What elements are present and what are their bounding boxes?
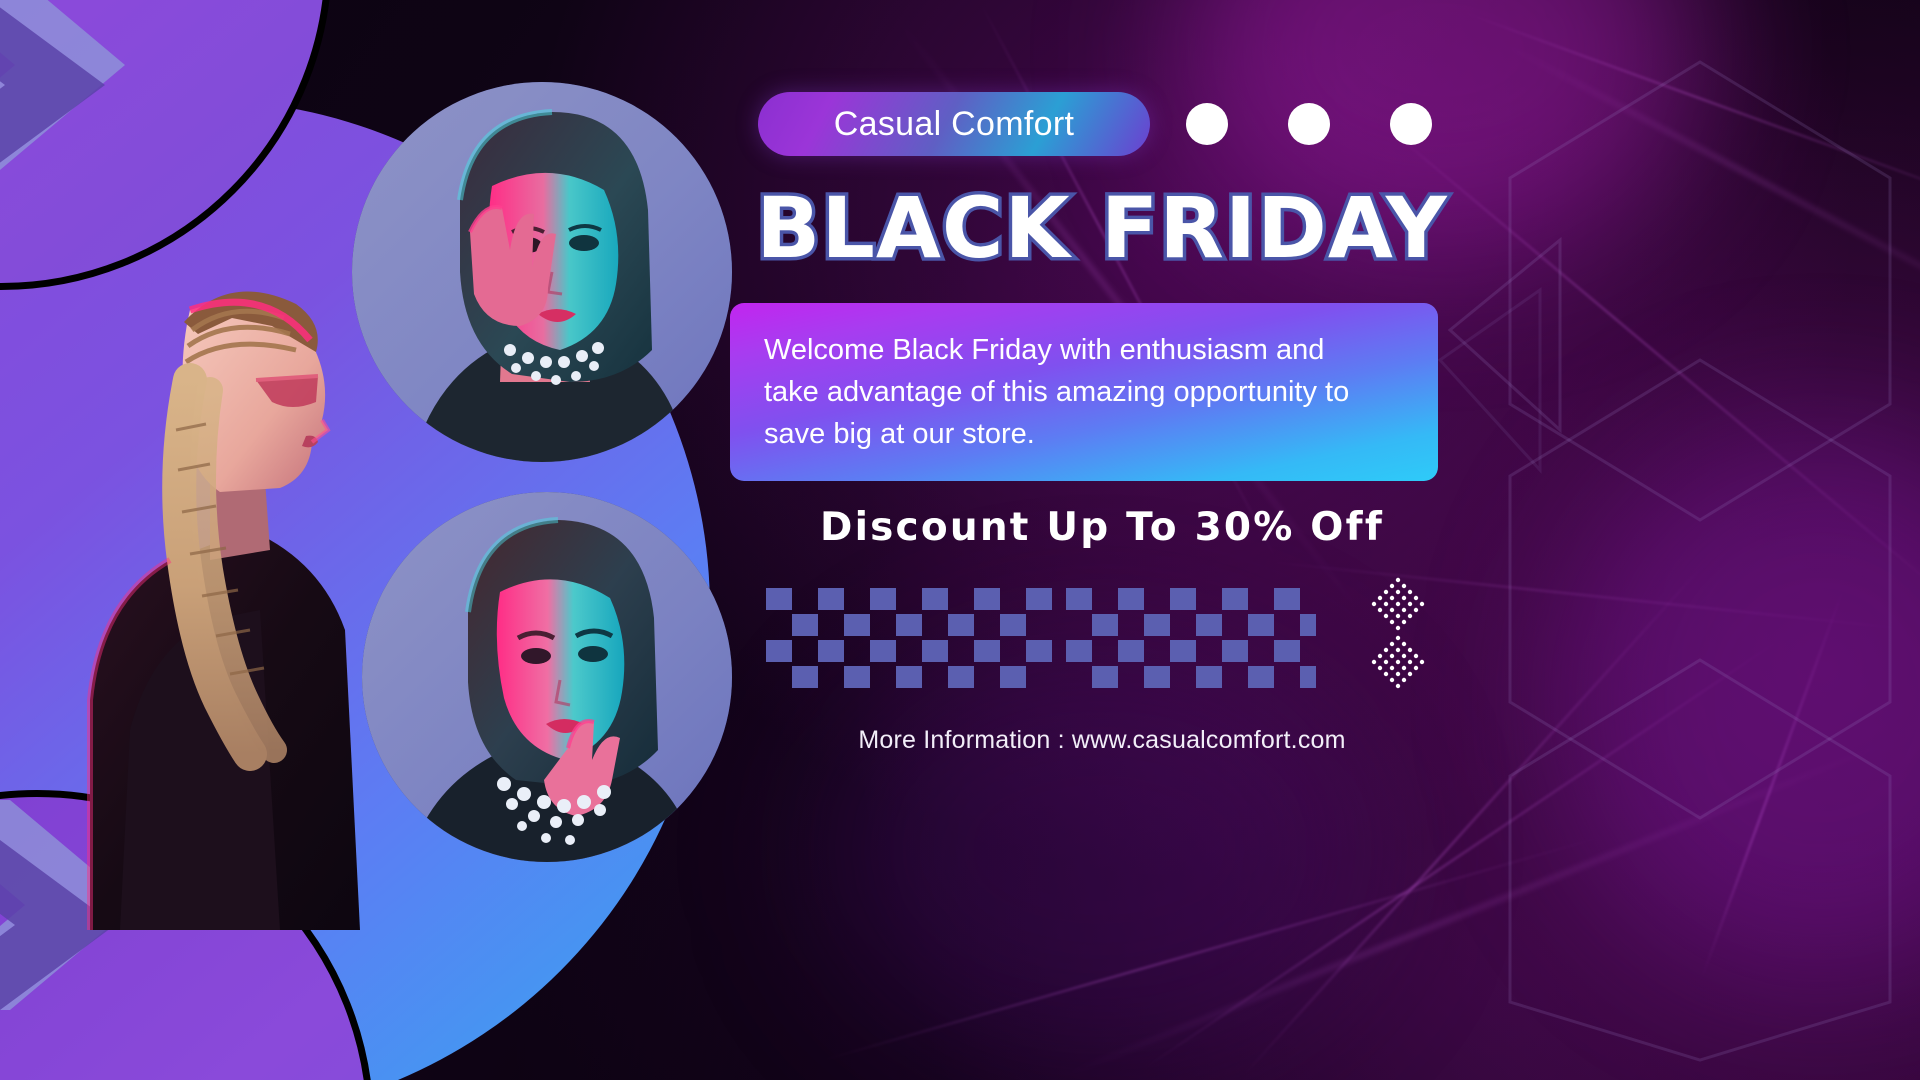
black-friday-banner: Casual Comfort BLACK FRIDAY Welcome Blac… xyxy=(0,0,1920,1080)
discount-headline: Discount Up To 30% Off xyxy=(752,505,1452,550)
diamond-dot-motif xyxy=(1362,576,1434,690)
description-text: Welcome Black Friday with enthusiasm and… xyxy=(764,329,1384,456)
brand-label: Casual Comfort xyxy=(834,105,1074,144)
checkerboard-pattern-right xyxy=(1066,588,1316,688)
model-portrait-bottom xyxy=(362,492,732,862)
checkerboard-pattern-left xyxy=(766,588,1056,688)
page-title: BLACK FRIDAY xyxy=(752,186,1452,270)
decor-dot-1 xyxy=(1186,103,1228,145)
brand-pill[interactable]: Casual Comfort xyxy=(758,92,1150,156)
decor-dot-2 xyxy=(1288,103,1330,145)
model-portrait-top xyxy=(352,82,732,462)
more-information-text[interactable]: More Information : www.casualcomfort.com xyxy=(752,726,1452,755)
chevron-arrow-top-left xyxy=(0,0,210,210)
decor-dot-3 xyxy=(1390,103,1432,145)
description-card: Welcome Black Friday with enthusiasm and… xyxy=(730,303,1438,481)
